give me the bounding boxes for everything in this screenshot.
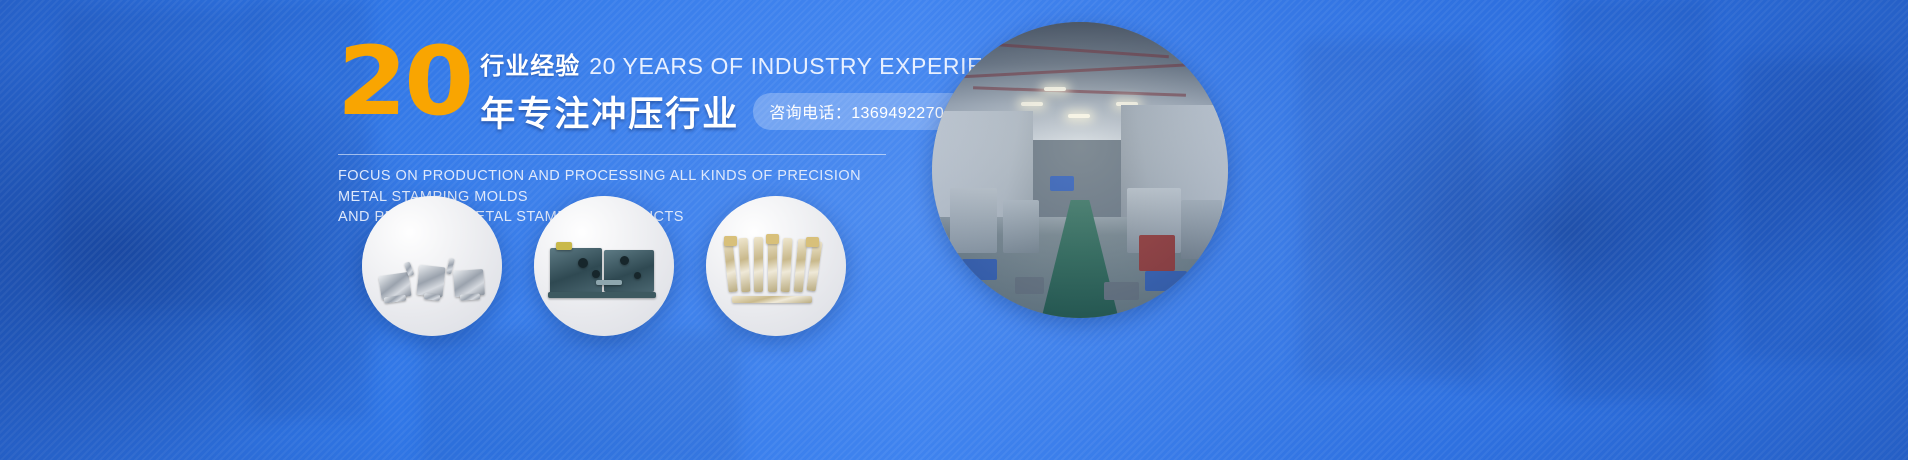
- product-image-stamping-mold: [534, 196, 674, 336]
- connector-parts-illustration: [362, 196, 502, 336]
- headline-cn-main: 年专注冲压行业: [480, 86, 739, 137]
- terminal-pins-illustration: [706, 196, 846, 336]
- product-image-connectors: [362, 196, 502, 336]
- factory-photo: [932, 22, 1228, 318]
- factory-interior-illustration: [932, 22, 1228, 318]
- divider-line: [338, 154, 886, 155]
- mold-die-illustration: [534, 196, 674, 336]
- promo-banner: 20 行业经验 20 YEARS OF INDUSTRY EXPERIENCE …: [0, 0, 1908, 460]
- headline-main-row: 20 行业经验 20 YEARS OF INDUSTRY EXPERIENCE …: [338, 38, 898, 137]
- headline-cn-tag: 行业经验: [480, 46, 580, 81]
- product-image-terminals: [706, 196, 846, 336]
- years-number: 20: [336, 42, 471, 124]
